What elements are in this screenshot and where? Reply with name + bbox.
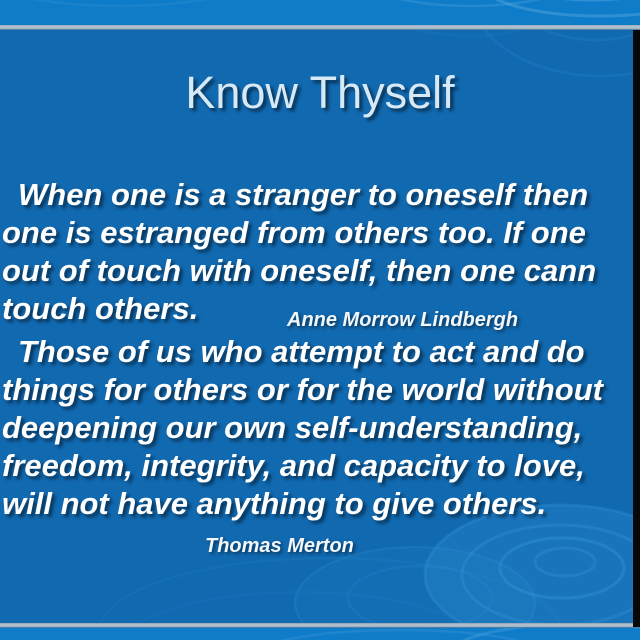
quote-line: Those of us who attempt to act and do — [2, 333, 640, 371]
quote-attribution-merton: Thomas Merton — [205, 534, 354, 558]
quote-line: one is estranged from others too. If one — [2, 214, 640, 252]
bottom-strip-ripple-decoration — [0, 628, 640, 640]
bottom-accent-strip — [0, 628, 640, 640]
slide-content: Know Thyself When one is a stranger to o… — [0, 30, 640, 627]
top-accent-strip — [0, 0, 640, 25]
quote-block-lindbergh: When one is a stranger to oneself then o… — [2, 176, 640, 328]
quote-line: will not have anything to give others. — [2, 485, 640, 523]
quote-block-merton: Those of us who attempt to act and do th… — [2, 333, 640, 523]
quote-attribution-lindbergh: Anne Morrow Lindbergh — [287, 308, 518, 332]
quote-line: freedom, integrity, and capacity to love… — [2, 447, 640, 485]
quote-line: things for others or for the world witho… — [2, 371, 640, 409]
quote-slide: Know Thyself When one is a stranger to o… — [0, 0, 640, 640]
quote-line: out of touch with oneself, then one cann — [2, 252, 640, 290]
quote-line: deepening our own self-understanding, — [2, 409, 640, 447]
quote-line: When one is a stranger to oneself then — [2, 176, 640, 214]
page-title: Know Thyself — [0, 68, 640, 118]
